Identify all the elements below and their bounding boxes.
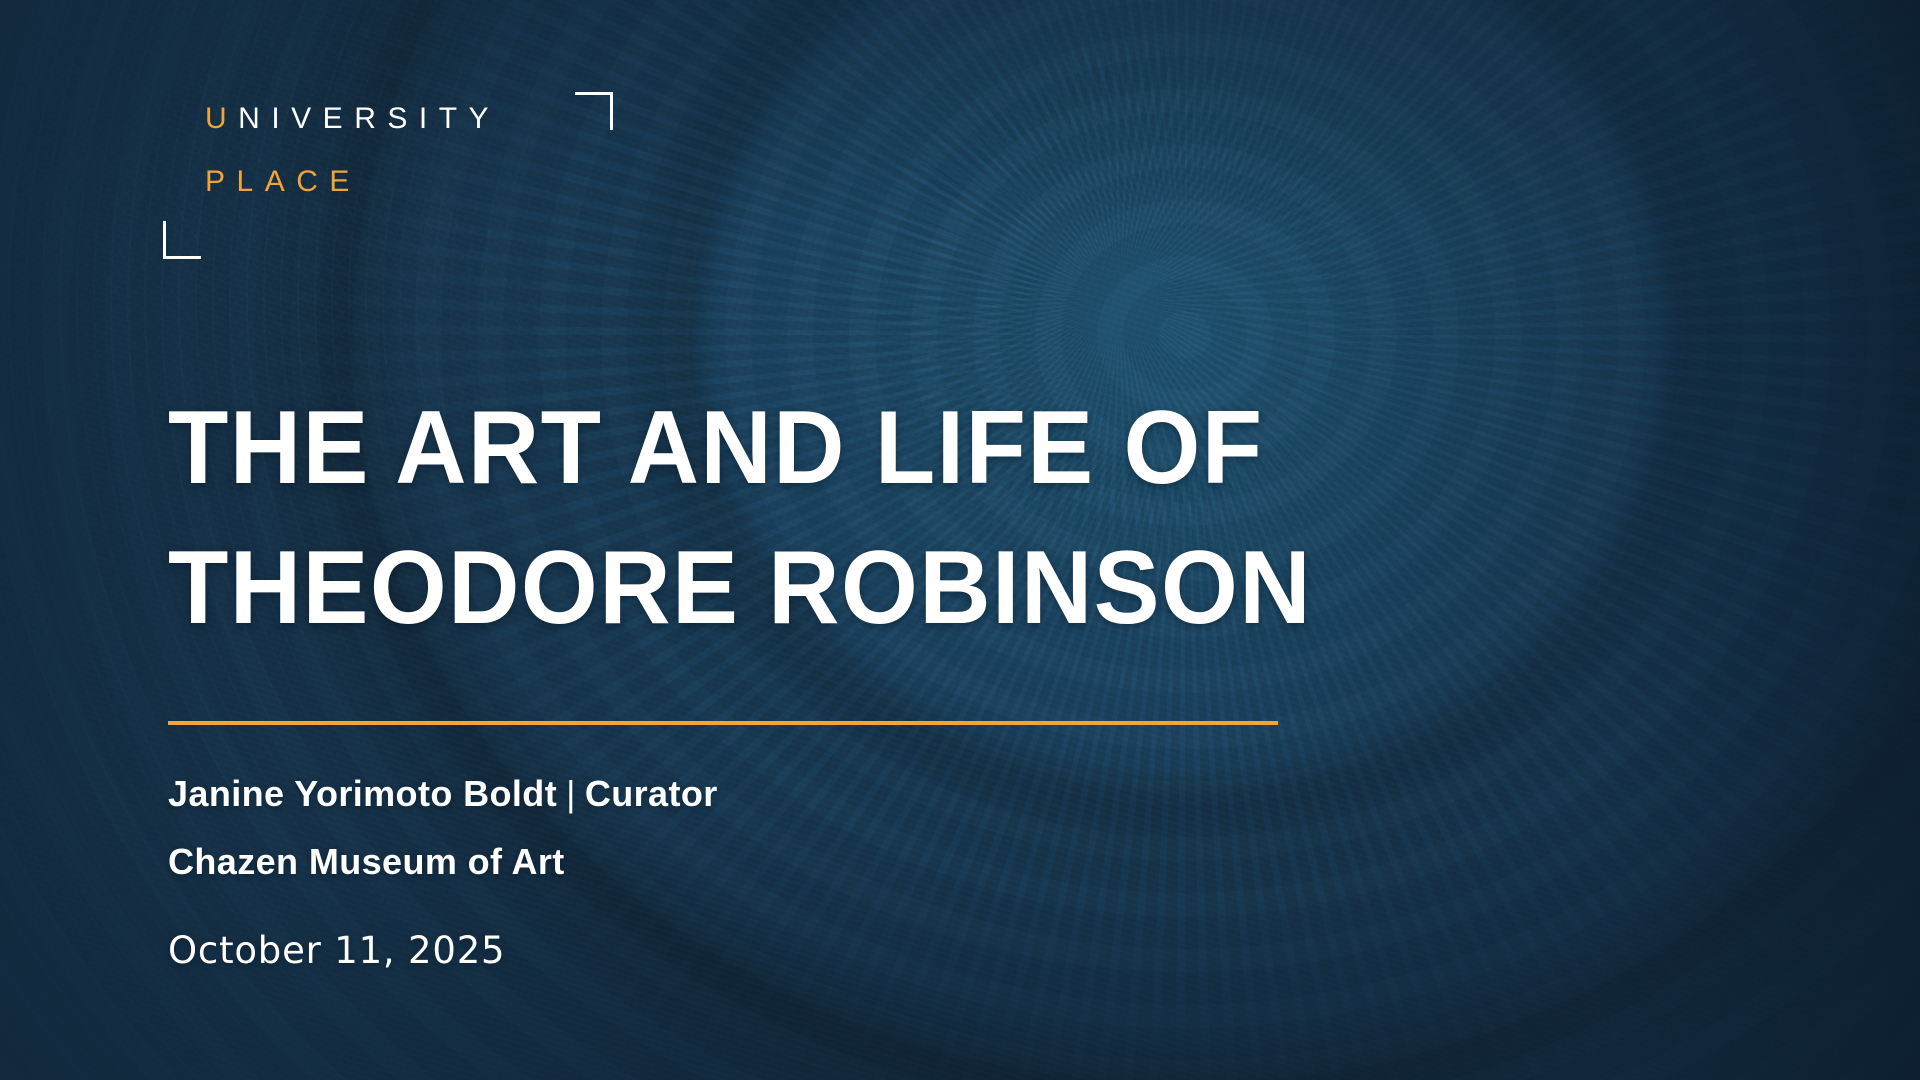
speaker-affiliation: Chazen Museum of Art: [168, 828, 1268, 896]
logo-line-university: UNIVERSITY: [205, 102, 500, 136]
orange-divider-rule: [168, 721, 1278, 725]
event-date: October 11, 2025: [168, 929, 505, 972]
speaker-block: Janine Yorimoto Boldt|Curator Chazen Mus…: [168, 760, 1268, 896]
title-slide: UNIVERSITY PLACE THE ART AND LIFE OF THE…: [0, 0, 1920, 1080]
slide-content: UNIVERSITY PLACE THE ART AND LIFE OF THE…: [0, 0, 1920, 1080]
corner-bracket-bottom-left-icon: [163, 221, 201, 259]
logo-line-place: PLACE: [205, 165, 361, 199]
corner-bracket-top-right-icon: [575, 92, 613, 130]
page-title: THE ART AND LIFE OF THEODORE ROBINSON: [168, 378, 1588, 658]
page-title-line-2: THEODORE ROBINSON: [168, 518, 1517, 658]
speaker-name-role: Janine Yorimoto Boldt|Curator: [168, 760, 1268, 828]
logo-lead-letter: U: [205, 102, 238, 135]
speaker-name: Janine Yorimoto Boldt: [168, 773, 557, 814]
speaker-role: Curator: [585, 773, 718, 814]
speaker-separator: |: [557, 773, 585, 814]
university-place-logo[interactable]: UNIVERSITY PLACE: [163, 92, 613, 259]
page-title-line-1: THE ART AND LIFE OF: [168, 378, 1517, 518]
logo-line-university-rest: NIVERSITY: [238, 102, 500, 135]
